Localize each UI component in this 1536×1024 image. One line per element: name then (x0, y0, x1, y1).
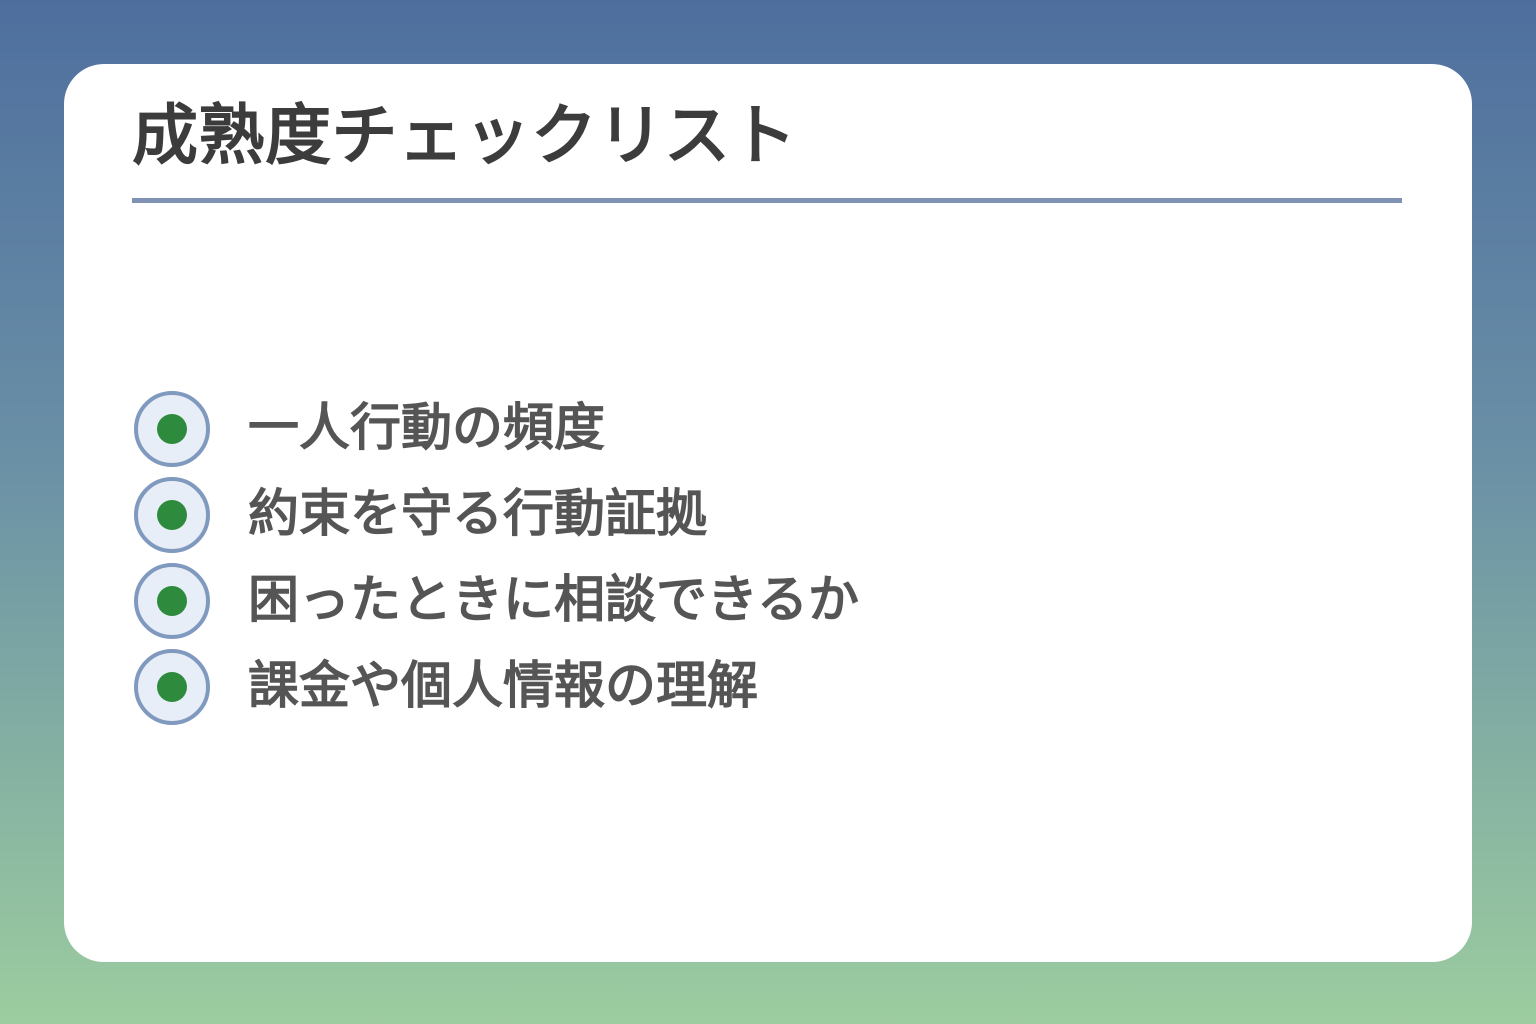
page-title: 成熟度チェックリスト (132, 98, 797, 174)
bullet-dot-icon (157, 414, 187, 444)
bullet-dot-icon (157, 586, 187, 616)
slide-root: 成熟度チェックリスト 一人行動の頻度 約束を守る行動証拠 (0, 0, 1536, 1024)
checklist: 一人行動の頻度 約束を守る行動証拠 困ったときに相談できるか (134, 386, 1394, 730)
title-divider (132, 198, 1402, 203)
list-item-label: 約束を守る行動証拠 (248, 487, 707, 543)
filled-circle-bullet-icon (134, 649, 210, 725)
filled-circle-bullet-icon (134, 563, 210, 639)
slide-card: 成熟度チェックリスト 一人行動の頻度 約束を守る行動証拠 (64, 64, 1472, 962)
list-item-label: 困ったときに相談できるか (248, 573, 859, 629)
bullet-dot-icon (157, 672, 187, 702)
list-item[interactable]: 一人行動の頻度 (134, 386, 1394, 472)
list-item[interactable]: 困ったときに相談できるか (134, 558, 1394, 644)
list-item[interactable]: 約束を守る行動証拠 (134, 472, 1394, 558)
filled-circle-bullet-icon (134, 477, 210, 553)
filled-circle-bullet-icon (134, 391, 210, 467)
list-item[interactable]: 課金や個人情報の理解 (134, 644, 1394, 730)
card-content: 成熟度チェックリスト 一人行動の頻度 約束を守る行動証拠 (132, 64, 1404, 962)
bullet-dot-icon (157, 500, 187, 530)
list-item-label: 課金や個人情報の理解 (248, 659, 758, 715)
list-item-label: 一人行動の頻度 (248, 401, 605, 457)
